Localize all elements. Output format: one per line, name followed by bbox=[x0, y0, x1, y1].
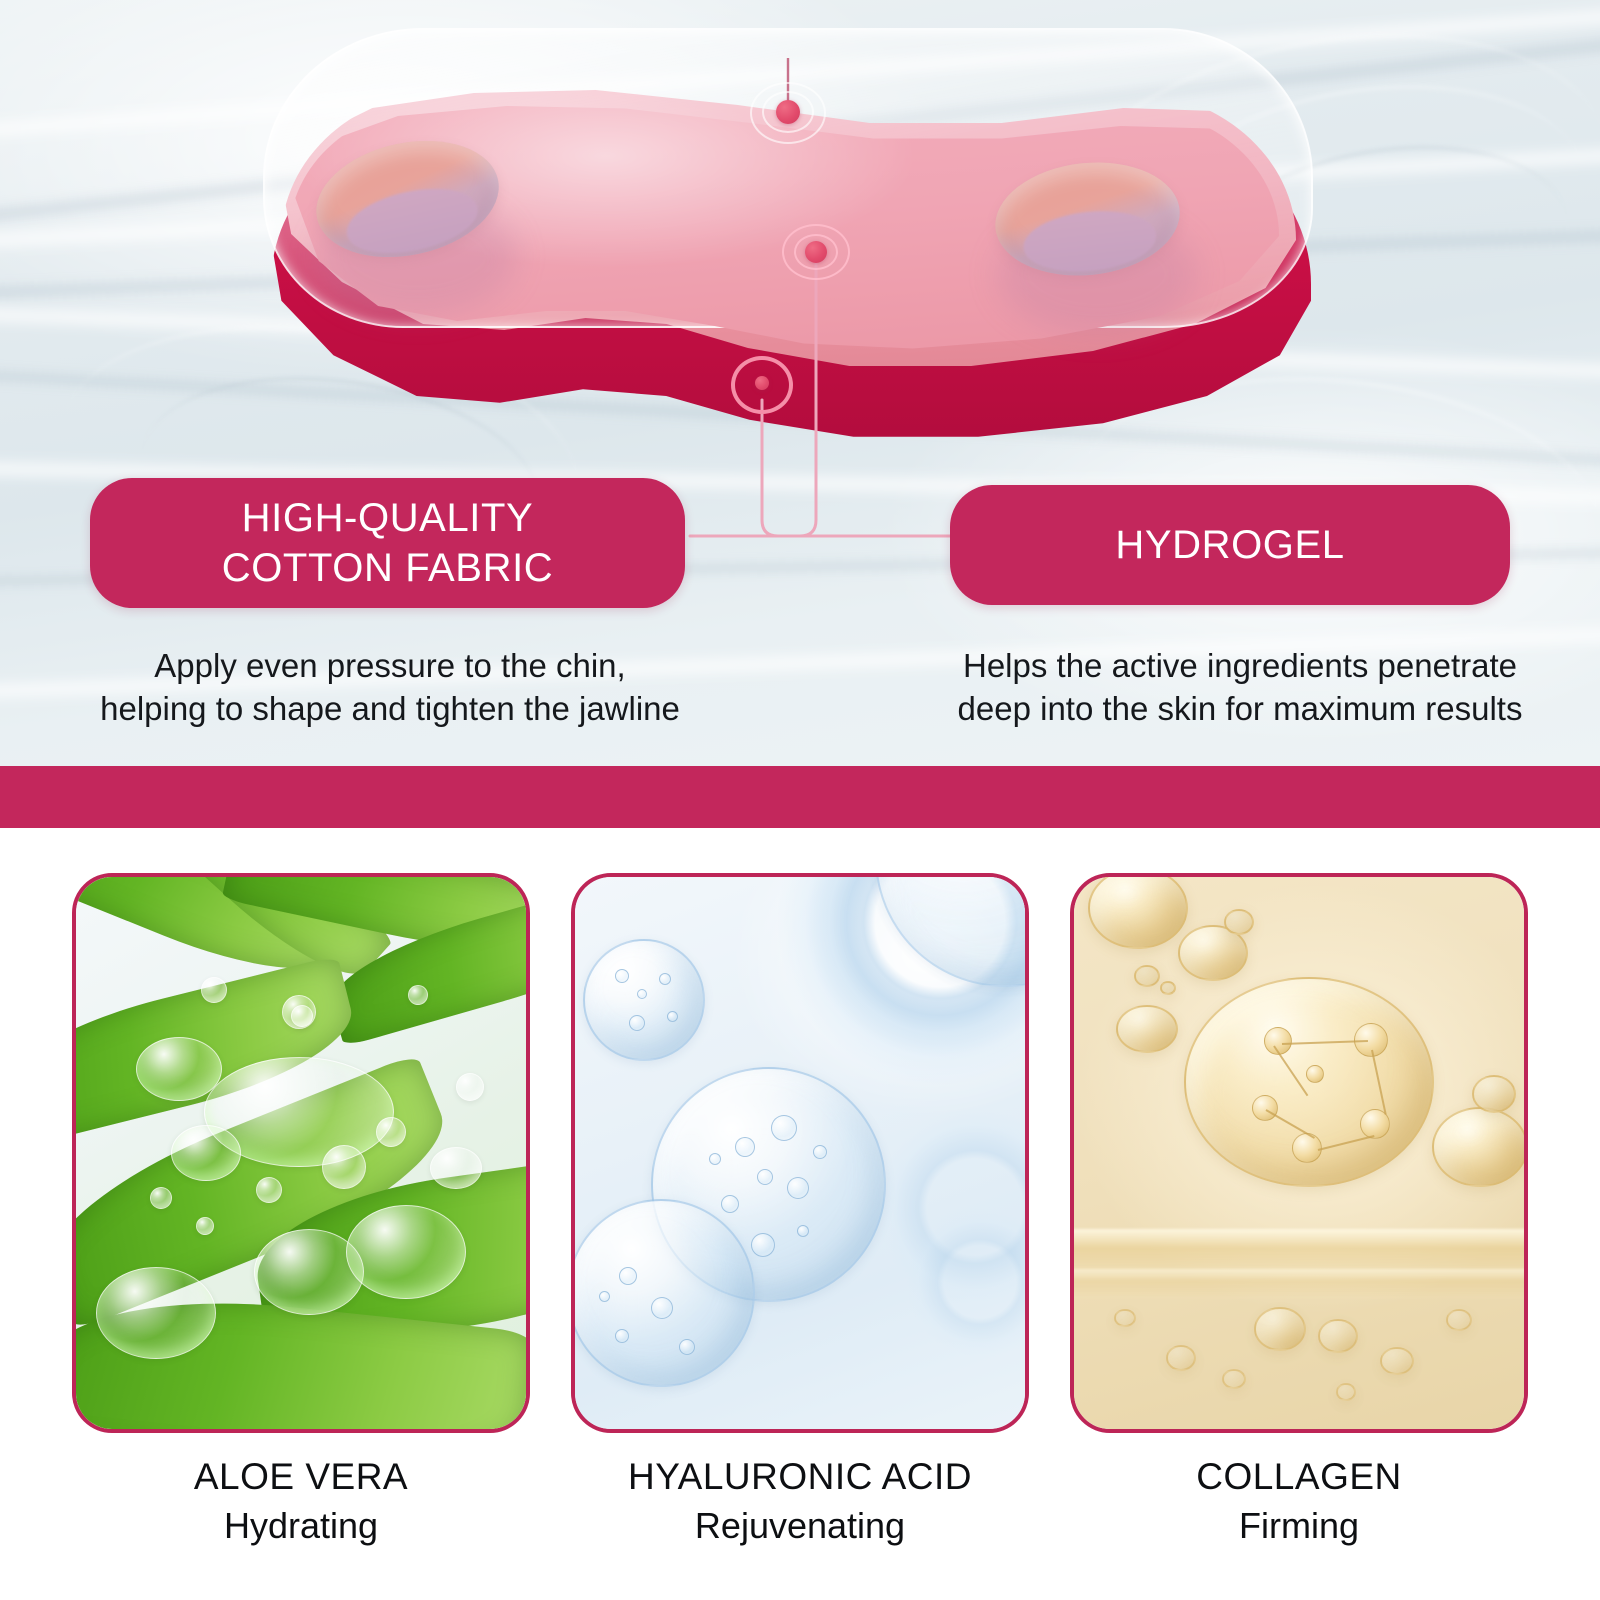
product-infographic-page: HIGH-QUALITY COTTON FABRIC HYDROGEL Appl… bbox=[0, 0, 1600, 1600]
ingredient-subtitle: Firming bbox=[1070, 1505, 1528, 1547]
collagen-image bbox=[1074, 877, 1524, 1429]
ingredient-title: HYALURONIC ACID bbox=[571, 1456, 1029, 1497]
ingredient-card-collagen[interactable] bbox=[1070, 873, 1528, 1433]
aloe-vera-image bbox=[76, 877, 526, 1429]
badge-label-line1: HIGH-QUALITY bbox=[222, 493, 554, 543]
callout-dot bbox=[776, 100, 800, 124]
ingredient-caption-aloe-vera: ALOE VERA Hydrating bbox=[72, 1456, 530, 1547]
ingredient-subtitle: Rejuvenating bbox=[571, 1505, 1029, 1547]
ingredient-caption-collagen: COLLAGEN Firming bbox=[1070, 1456, 1528, 1547]
callout-dot bbox=[755, 376, 769, 390]
section-divider-bar bbox=[0, 766, 1600, 828]
description-line1: Helps the active ingredients penetrate bbox=[930, 645, 1550, 688]
callout-dot bbox=[805, 241, 827, 263]
hyaluronic-acid-image bbox=[575, 877, 1025, 1429]
ingredients-section: ALOE VERA Hydrating HYALURONIC ACID Reju… bbox=[0, 828, 1600, 1600]
callout-badge-cotton-fabric[interactable]: HIGH-QUALITY COTTON FABRIC bbox=[90, 478, 685, 608]
ingredient-title: COLLAGEN bbox=[1070, 1456, 1528, 1497]
callout-description-cotton-fabric: Apply even pressure to the chin, helping… bbox=[70, 645, 710, 731]
callout-badge-hydrogel[interactable]: HYDROGEL bbox=[950, 485, 1510, 605]
ingredient-card-aloe-vera[interactable] bbox=[72, 873, 530, 1433]
description-line1: Apply even pressure to the chin, bbox=[70, 645, 710, 688]
hero-section: HIGH-QUALITY COTTON FABRIC HYDROGEL Appl… bbox=[0, 0, 1600, 766]
callout-description-hydrogel: Helps the active ingredients penetrate d… bbox=[930, 645, 1550, 731]
description-line2: helping to shape and tighten the jawline bbox=[70, 688, 710, 731]
badge-label-line2: COTTON FABRIC bbox=[222, 543, 554, 593]
ingredient-title: ALOE VERA bbox=[72, 1456, 530, 1497]
ingredient-caption-hyaluronic-acid: HYALURONIC ACID Rejuvenating bbox=[571, 1456, 1029, 1547]
badge-label-line1: HYDROGEL bbox=[1115, 520, 1344, 570]
ingredient-card-hyaluronic-acid[interactable] bbox=[571, 873, 1029, 1433]
ingredient-subtitle: Hydrating bbox=[72, 1505, 530, 1547]
description-line2: deep into the skin for maximum results bbox=[930, 688, 1550, 731]
